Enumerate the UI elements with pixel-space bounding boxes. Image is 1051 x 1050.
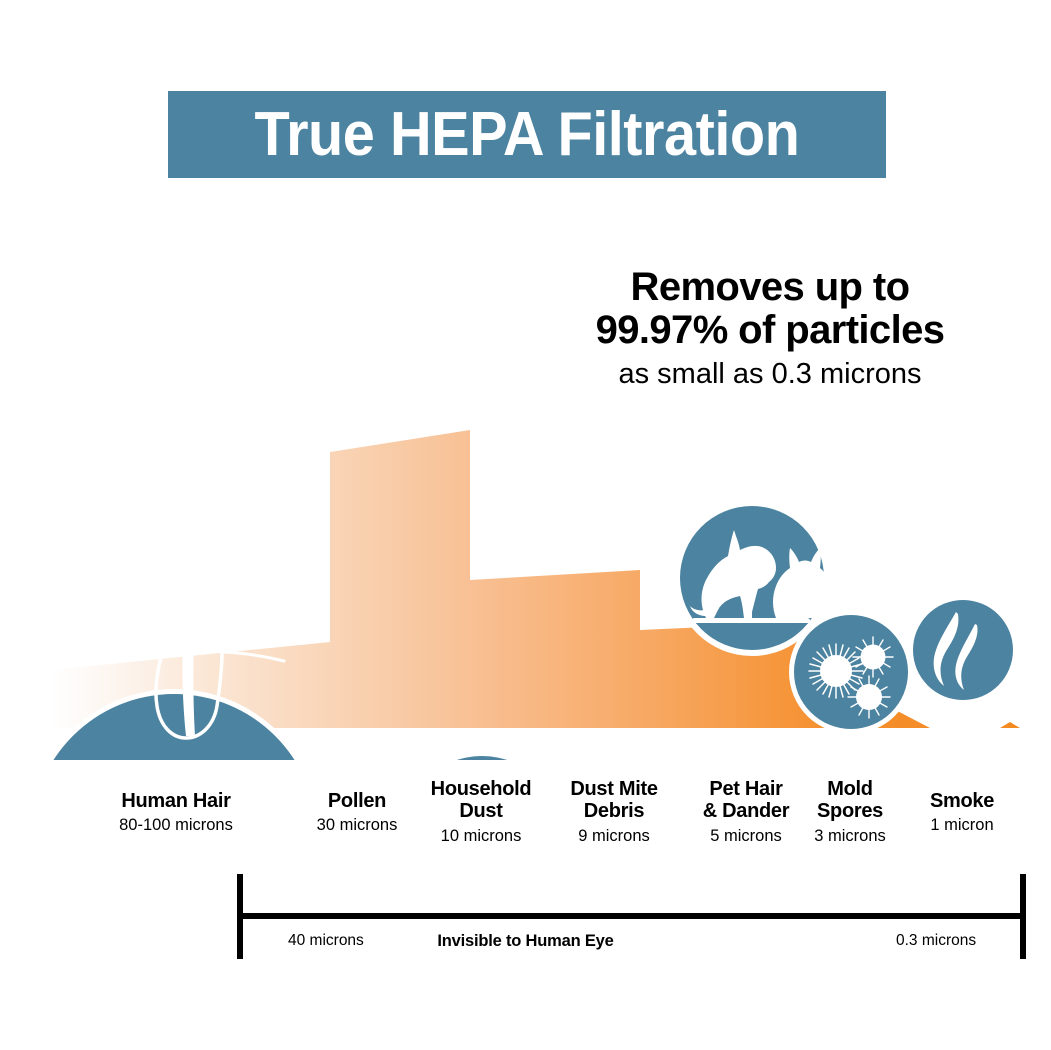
particle-name: Dust Mite Debris [538,778,690,823]
particle-label-household-dust: Household Dust 10 microns [401,778,561,846]
scale-bar-line [237,913,1026,919]
particle-circle-household-dust [394,750,570,760]
particle-size: 9 microns [538,826,690,847]
particle-label-smoke: Smoke 1 micron [892,790,1032,836]
particle-circle-mold-spores [789,610,913,734]
particle-circle-smoke [908,595,1018,705]
headline-line-1: Removes up to [540,266,1000,309]
particle-size: 10 microns [401,826,561,847]
title-banner: True HEPA Filtration [168,91,886,178]
particle-name: Smoke [892,790,1032,812]
particle-size-diagram [0,330,1051,760]
particle-label-dust-mite-debris: Dust Mite Debris 9 microns [538,778,690,846]
particle-name: Household Dust [401,778,561,823]
page-title: True HEPA Filtration [255,104,800,166]
particle-label-human-hair: Human Hair 80-100 microns [56,790,296,836]
particle-size: 1 micron [892,815,1032,836]
infographic-page: True HEPA Filtration Removes up to 99.97… [0,0,1051,1050]
particle-name: Human Hair [56,790,296,812]
particle-size: 80-100 microns [56,815,296,836]
size-scale-bar: 40 microns Invisible to Human Eye 0.3 mi… [0,860,1051,970]
scale-center-label: Invisible to Human Eye [0,932,1051,951]
scale-right-value: 0.3 microns [896,932,976,950]
